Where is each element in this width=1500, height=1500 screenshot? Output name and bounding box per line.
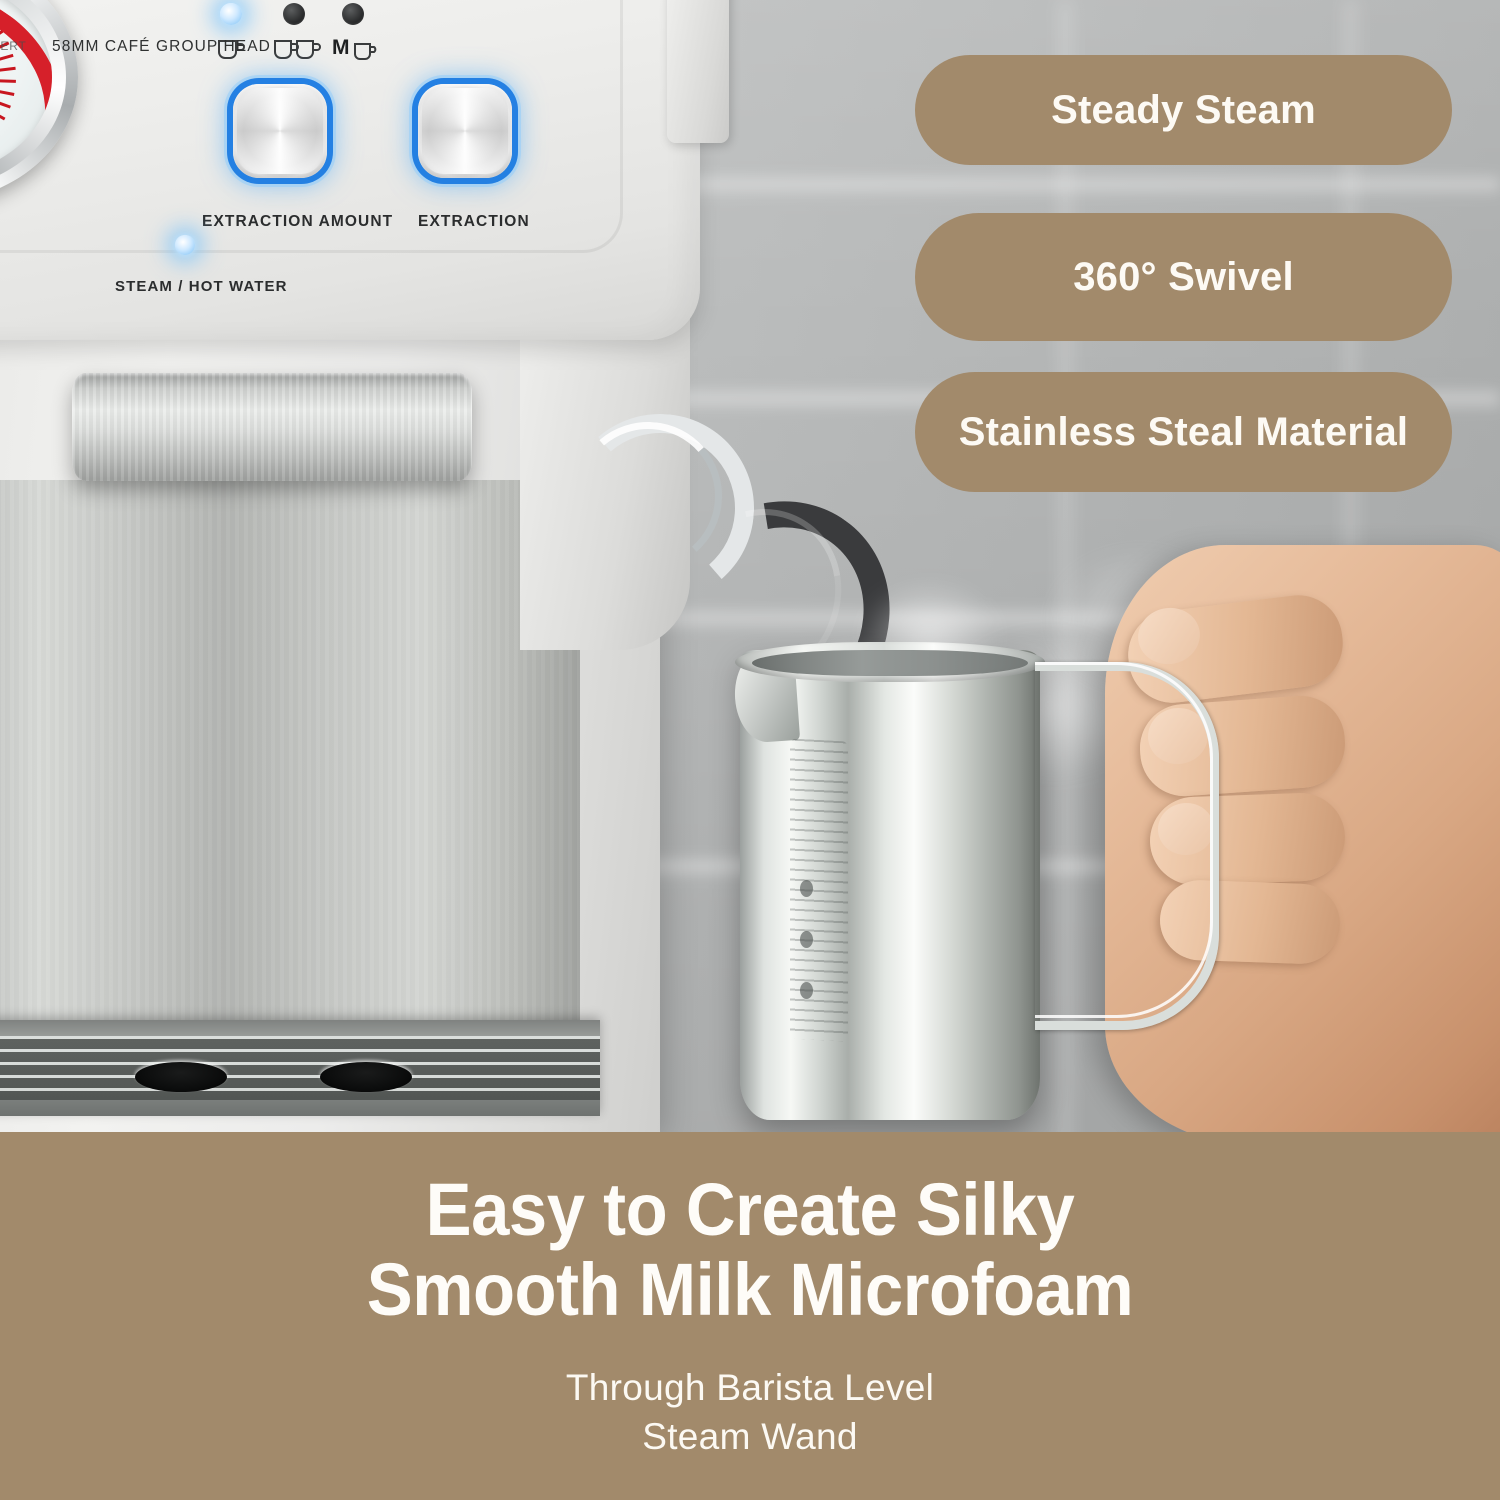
pitcher-reflection-dots: [800, 880, 813, 1033]
manual-cup-icon: [352, 41, 384, 63]
led-steam-hot-water: [175, 235, 195, 255]
side-tab-handle[interactable]: [667, 0, 729, 143]
headline-line-2: Smooth Milk Microfoam: [53, 1250, 1448, 1330]
drip-tray-grate: [0, 1036, 600, 1100]
pitcher-reflection-lines: [790, 738, 848, 1041]
bottom-caption-banner: Easy to Create Silky Smooth Milk Microfo…: [0, 1132, 1500, 1500]
double-cup-icon: [272, 38, 324, 62]
feature-pill-swivel: 360° Swivel: [915, 213, 1452, 341]
led-single-cup: [220, 3, 242, 25]
headline: Easy to Create Silky Smooth Milk Microfo…: [53, 1170, 1448, 1330]
subheadline-line-2: Steam Wand: [0, 1413, 1500, 1462]
feature-pill-label: 360° Swivel: [1073, 255, 1294, 299]
group-head-label: 58MM CAFÉ GROUP HEAD: [52, 38, 271, 56]
extraction-amount-button[interactable]: [233, 84, 327, 178]
feature-pill-label: Steady Steam: [1051, 88, 1316, 132]
pitcher-handle-highlight: [1035, 662, 1213, 1018]
steam-hot-water-label: STEAM / HOT WATER: [115, 278, 288, 295]
feature-pill-label: Stainless Steal Material: [959, 410, 1408, 454]
pitcher-interior: [752, 650, 1028, 676]
gauge-face: SSO RANGE PRESSURE: [0, 0, 52, 176]
espresso-machine-body: SSO RANGE PRESSURE: [0, 0, 660, 1140]
gauge-red-ticks: [0, 0, 52, 176]
feature-pill-material: Stainless Steal Material: [915, 372, 1452, 492]
product-marketing-image: SSO RANGE PRESSURE: [0, 0, 1500, 1500]
machine-front-panel: [0, 480, 580, 1040]
drip-tray: [0, 1020, 600, 1116]
manual-mode-letter: M: [332, 36, 350, 60]
drip-tray-hole: [320, 1062, 412, 1092]
group-head-side-label: INSERT: [0, 39, 27, 53]
pressure-gauge: SSO RANGE PRESSURE: [0, 0, 78, 202]
drip-tray-hole: [135, 1062, 227, 1092]
extraction-label: EXTRACTION: [418, 213, 530, 231]
subheadline-line-1: Through Barista Level: [0, 1364, 1500, 1413]
headline-line-1: Easy to Create Silky: [53, 1170, 1448, 1250]
extraction-button[interactable]: [418, 84, 512, 178]
led-manual-cup: [342, 3, 364, 25]
subheadline: Through Barista Level Steam Wand: [0, 1364, 1500, 1462]
extraction-amount-label: EXTRACTION AMOUNT: [202, 213, 393, 231]
feature-pill-steady-steam: Steady Steam: [915, 55, 1452, 165]
group-head: [72, 373, 472, 481]
led-double-cup: [283, 3, 305, 25]
